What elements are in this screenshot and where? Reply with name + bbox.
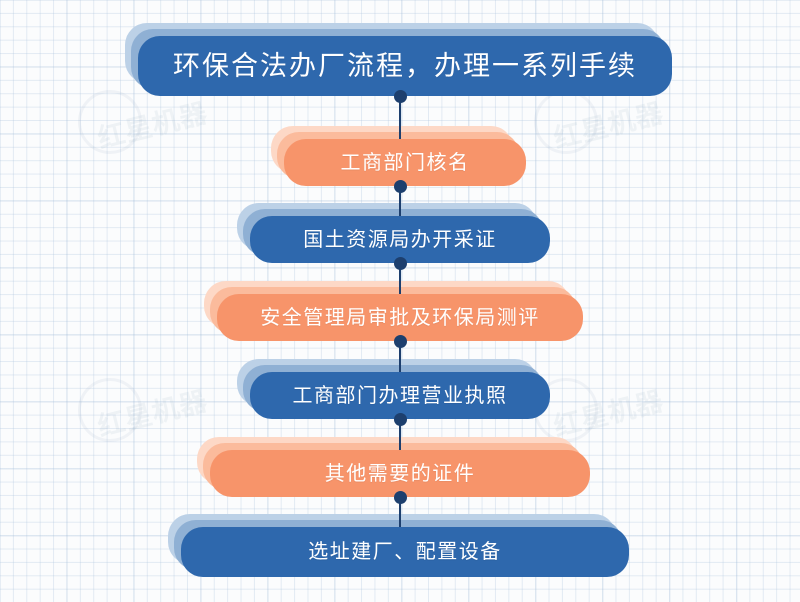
step-label: 安全管理局审批及环保局测评 <box>260 308 540 328</box>
flow-step-2[interactable]: 国土资源局办开采证 <box>250 216 550 263</box>
step-label: 国土资源局办开采证 <box>303 230 497 250</box>
connector-dot <box>394 491 407 504</box>
step-label: 选址建厂、配置设备 <box>308 542 502 562</box>
node-face: 选址建厂、配置设备 <box>181 527 629 577</box>
node-face: 工商部门核名 <box>284 139 526 186</box>
step-label: 工商部门办理营业执照 <box>293 386 508 406</box>
node-face: 其他需要的证件 <box>210 450 590 497</box>
flow-step-6[interactable]: 选址建厂、配置设备 <box>181 527 629 577</box>
flowchart-canvas: 红星机器红星机器红星机器红星机器 环保合法办厂流程，办理一系列手续工商部门核名国… <box>0 0 800 602</box>
flow-step-5[interactable]: 其他需要的证件 <box>210 450 590 497</box>
connector-dot <box>394 180 407 193</box>
connector-dot <box>394 257 407 270</box>
step-label: 工商部门核名 <box>341 153 470 173</box>
flow-step-4[interactable]: 工商部门办理营业执照 <box>250 372 550 419</box>
node-face: 国土资源局办开采证 <box>250 216 550 263</box>
connector-dot <box>394 335 407 348</box>
step-label: 其他需要的证件 <box>325 464 476 484</box>
flow-step-3[interactable]: 安全管理局审批及环保局测评 <box>217 294 583 341</box>
connector-dot <box>394 413 407 426</box>
flowchart-title-node[interactable]: 环保合法办厂流程，办理一系列手续 <box>138 36 672 96</box>
node-face: 安全管理局审批及环保局测评 <box>217 294 583 341</box>
flow-layer: 环保合法办厂流程，办理一系列手续工商部门核名国土资源局办开采证安全管理局审批及环… <box>0 0 800 602</box>
flowchart-title-label: 环保合法办厂流程，办理一系列手续 <box>173 53 637 80</box>
flow-step-1[interactable]: 工商部门核名 <box>284 139 526 186</box>
connector-dot <box>394 90 407 103</box>
node-face: 环保合法办厂流程，办理一系列手续 <box>138 36 672 96</box>
node-face: 工商部门办理营业执照 <box>250 372 550 419</box>
